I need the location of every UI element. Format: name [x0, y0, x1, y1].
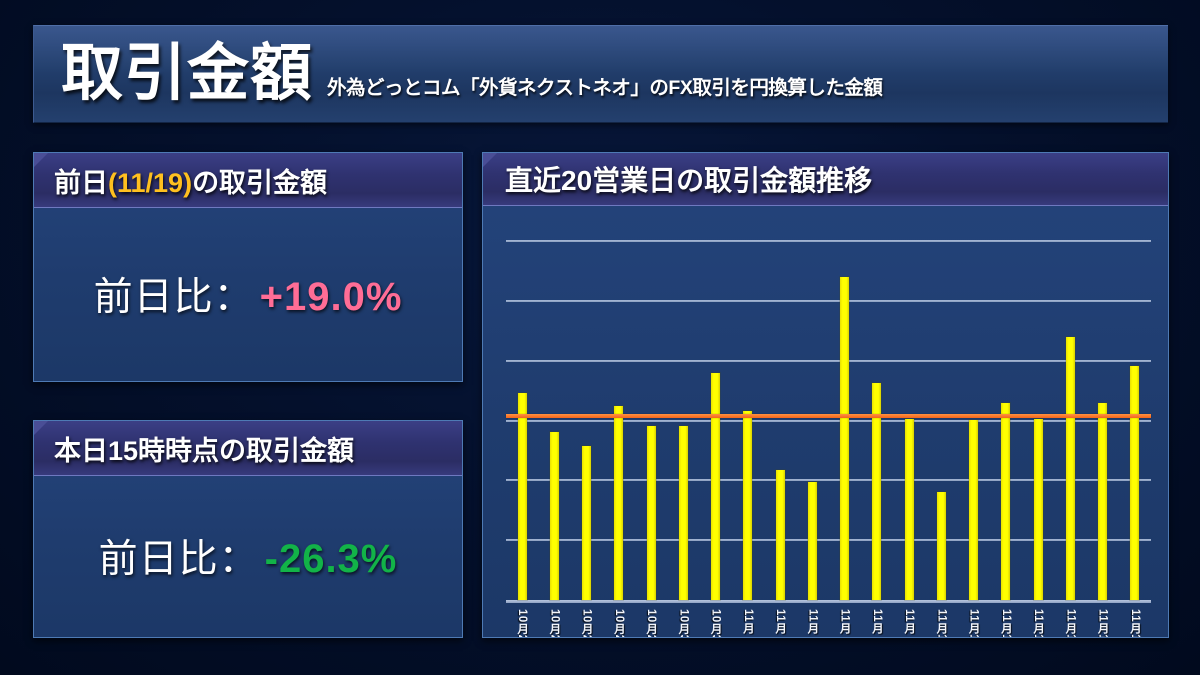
today-panel-body: 前日比：-26.3% — [34, 475, 462, 637]
chart-bar — [1001, 403, 1010, 600]
today-panel: 本日15時時点の取引金額 前日比：-26.3% — [33, 420, 463, 638]
chart-x-tick-label: 11月19日 — [1127, 609, 1143, 638]
today-ratio: 前日比：-26.3% — [99, 528, 398, 584]
chart-bar — [582, 446, 591, 600]
chart-x-tick-label: 11月 6日 — [837, 609, 853, 638]
chart-x-axis — [506, 600, 1151, 603]
today-heading: 本日15時時点の取引金額 — [54, 429, 354, 468]
chart-x-tick-label: 11月12日 — [966, 609, 982, 638]
page-background: 取引金額 外為どっとコム「外貨ネクストネオ」のFX取引を円換算した金額 前日(1… — [0, 0, 1200, 675]
chart-bar — [776, 470, 785, 600]
chart-bar — [550, 432, 559, 600]
chart-heading: 直近20営業日の取引金額推移 — [505, 159, 872, 199]
chart-bar — [808, 482, 817, 600]
chart-x-tick-label: 11月 1日 — [740, 609, 756, 638]
previous-day-panel: 前日(11/19)の取引金額 前日比：+19.0% — [33, 152, 463, 382]
previous-day-panel-body: 前日比：+19.0% — [34, 207, 462, 381]
chart-x-tick-label: 10月23日 — [514, 609, 530, 638]
chart-x-tick-label: 10月31日 — [708, 609, 724, 638]
chart-x-tick-labels: 10月23日10月24日10月25日10月28日10月29日10月30日10月3… — [506, 609, 1151, 638]
chart-gridline — [506, 539, 1151, 541]
chart-x-tick-label: 11月14日 — [1030, 609, 1046, 638]
chart-bar — [711, 373, 720, 600]
previous-day-ratio-value: +19.0% — [260, 275, 403, 319]
previous-day-panel-header: 前日(11/19)の取引金額 — [34, 153, 462, 208]
chart-gridline — [506, 300, 1151, 302]
header-content: 取引金額 外為どっとコム「外貨ネクストネオ」のFX取引を円換算した金額 — [34, 26, 1168, 122]
chart-average-line — [506, 414, 1151, 418]
chart-bar — [679, 426, 688, 600]
chart-bar — [614, 406, 623, 600]
today-panel-header: 本日15時時点の取引金額 — [34, 421, 462, 476]
today-ratio-label: 前日比： — [99, 538, 259, 581]
chart-x-tick-label: 11月 5日 — [804, 609, 820, 638]
chart-bar — [969, 420, 978, 600]
chart-bar — [647, 426, 656, 600]
chart-x-tick-label: 11月 4日 — [772, 609, 788, 638]
chart-bar — [937, 492, 946, 600]
page-title: 取引金額 — [61, 43, 313, 105]
chart-bar — [1098, 403, 1107, 600]
page-subtitle: 外為どっとコム「外貨ネクストネオ」のFX取引を円換算した金額 — [327, 71, 882, 100]
previous-day-ratio-label: 前日比： — [94, 276, 254, 319]
chart-x-tick-label: 11月 8日 — [901, 609, 917, 638]
chart-x-tick-label: 11月13日 — [998, 609, 1014, 638]
previous-day-heading-suffix: の取引金額 — [192, 168, 327, 198]
header-banner: 取引金額 外為どっとコム「外貨ネクストネオ」のFX取引を円換算した金額 — [33, 25, 1168, 123]
chart-x-tick-label: 10月29日 — [643, 609, 659, 638]
chart-x-tick-label: 11月11日 — [933, 609, 949, 638]
chart-bar — [1130, 366, 1139, 600]
chart-gridline — [506, 360, 1151, 362]
chart-x-tick-label: 10月28日 — [611, 609, 627, 638]
chart-x-tick-label: 10月30日 — [675, 609, 691, 638]
chart-gridline — [506, 240, 1151, 242]
chart-x-tick-label: 10月24日 — [546, 609, 562, 638]
chart-bar — [905, 419, 914, 600]
chart-panel-header: 直近20営業日の取引金額推移 — [483, 153, 1168, 206]
today-ratio-value: -26.3% — [265, 537, 398, 581]
chart-x-tick-label: 11月15日 — [1062, 609, 1078, 638]
chart-x-tick-label: 10月25日 — [579, 609, 595, 638]
previous-day-heading: 前日(11/19)の取引金額 — [54, 161, 327, 200]
chart-bar — [840, 277, 849, 600]
chart-bar — [518, 393, 527, 600]
chart-bar — [1034, 419, 1043, 600]
previous-day-date: (11/19) — [108, 168, 192, 198]
chart-x-tick-label: 11月18日 — [1095, 609, 1111, 638]
chart-gridline — [506, 420, 1151, 422]
previous-day-heading-prefix: 前日 — [54, 168, 108, 198]
chart-x-tick-label: 11月 7日 — [869, 609, 885, 638]
chart-bar — [1066, 337, 1075, 600]
chart-panel: 直近20営業日の取引金額推移 10月23日10月24日10月25日10月28日1… — [482, 152, 1169, 638]
chart-gridline — [506, 479, 1151, 481]
chart-bar — [743, 411, 752, 600]
chart-plot — [506, 235, 1151, 603]
previous-day-ratio: 前日比：+19.0% — [94, 266, 403, 322]
chart-area: 10月23日10月24日10月25日10月28日10月29日10月30日10月3… — [483, 205, 1168, 637]
